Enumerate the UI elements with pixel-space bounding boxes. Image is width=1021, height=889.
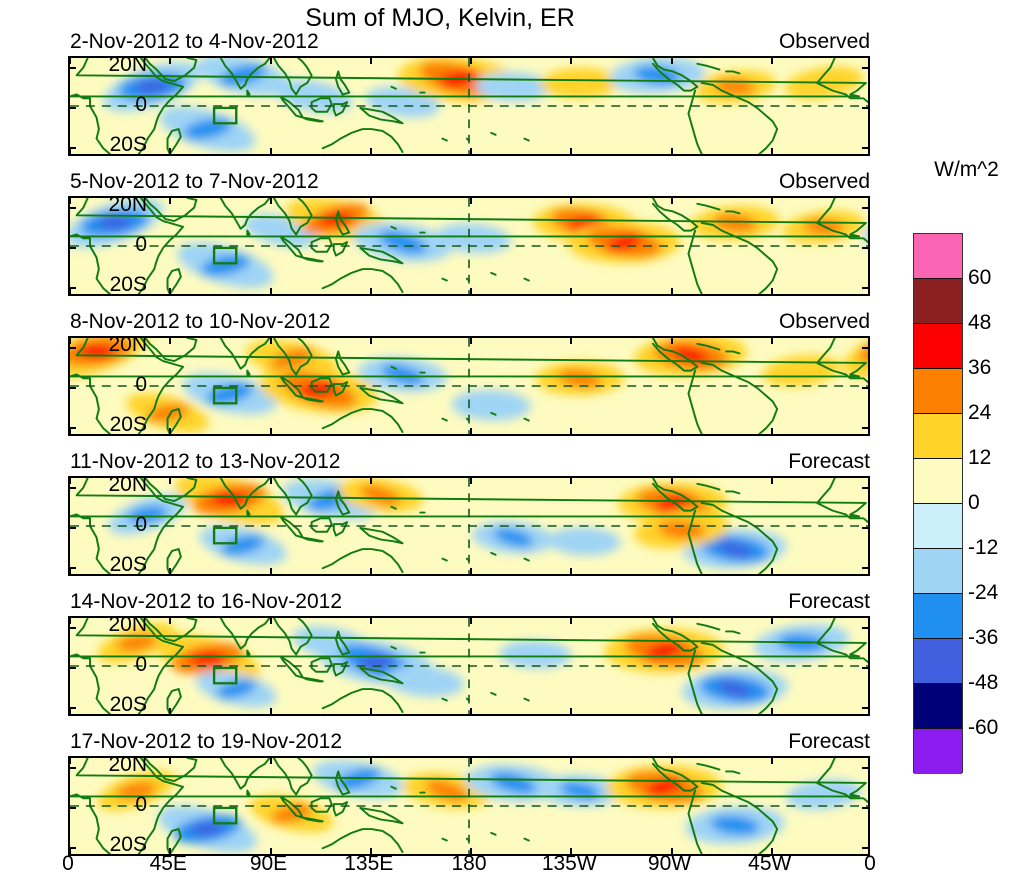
x-tick [671, 568, 673, 575]
figure-root: Sum of MJO, Kelvin, ER 2-Nov-2012 to 4-N… [0, 0, 1021, 889]
y-axis-label-20S: 20S [87, 413, 147, 437]
y-tick [69, 387, 76, 389]
x-tick [370, 337, 372, 344]
x-tick [69, 288, 71, 295]
y-tick [69, 287, 76, 289]
colorbar-band-1[interactable] [914, 279, 962, 324]
colorbar-band-4[interactable] [914, 414, 962, 459]
colorbar-band-3[interactable] [914, 369, 962, 414]
y-axis-label-20S: 20S [87, 693, 147, 717]
panel-header: 17-Nov-2012 to 19-Nov-2012Forecast [68, 730, 870, 756]
x-tick [370, 288, 372, 295]
x-tick [270, 197, 272, 204]
y-tick [69, 207, 76, 209]
colorbar-ticklabel-36: 36 [968, 356, 991, 380]
y-tick [862, 627, 869, 629]
x-tick [771, 757, 773, 764]
x-tick [671, 197, 673, 204]
y-tick [69, 107, 76, 109]
x-tick [771, 617, 773, 624]
y-tick [69, 707, 76, 709]
y-tick [862, 667, 869, 669]
x-tick [169, 197, 171, 204]
x-tick [69, 337, 71, 344]
x-tick [470, 757, 472, 764]
panel-kind-label: Forecast [788, 730, 870, 754]
panel-date-range: 17-Nov-2012 to 19-Nov-2012 [70, 730, 342, 754]
colorbar-band-6[interactable] [914, 504, 962, 549]
x-tick [771, 708, 773, 715]
x-tick [671, 428, 673, 435]
colorbar-ticklabel-60: 60 [968, 266, 991, 290]
x-tick [470, 568, 472, 575]
x-tick [570, 568, 572, 575]
x-axis-label-0: 0 [864, 852, 876, 876]
panel-date-range: 8-Nov-2012 to 10-Nov-2012 [70, 310, 330, 334]
y-tick [69, 527, 76, 529]
y-tick [69, 767, 76, 769]
colorbar-band-11[interactable] [914, 729, 962, 774]
panel-contour-field [70, 198, 868, 294]
y-tick [69, 667, 76, 669]
colorbar-ticklabels: 60483624120-12-24-36-48-60 [968, 233, 1021, 773]
y-tick [69, 807, 76, 809]
x-tick [470, 148, 472, 155]
y-axis-label-20N: 20N [87, 193, 147, 217]
y-axis-label-20N: 20N [87, 53, 147, 77]
y-tick [862, 767, 869, 769]
y-axis-label-20S: 20S [87, 553, 147, 577]
y-tick [862, 147, 869, 149]
y-tick [862, 67, 869, 69]
x-tick [169, 477, 171, 484]
x-tick [270, 708, 272, 715]
y-tick [69, 427, 76, 429]
x-tick [169, 57, 171, 64]
y-axis-label-0: 0 [87, 793, 147, 817]
colorbar-ticklabel-24: 24 [968, 401, 991, 425]
colorbar-band-9[interactable] [914, 639, 962, 684]
figure-title: Sum of MJO, Kelvin, ER [0, 4, 880, 33]
x-tick [671, 757, 673, 764]
x-tick [69, 708, 71, 715]
x-axis-label-45E: 45E [150, 852, 187, 876]
colorbar-band-7[interactable] [914, 549, 962, 594]
x-tick [69, 148, 71, 155]
x-tick [270, 148, 272, 155]
panel-plot-area[interactable] [68, 756, 870, 856]
x-axis-label-180: 180 [451, 852, 486, 876]
panel-header: 14-Nov-2012 to 16-Nov-2012Forecast [68, 590, 870, 616]
x-tick [570, 337, 572, 344]
y-axis-label-0: 0 [87, 233, 147, 257]
x-tick [69, 617, 71, 624]
x-tick [169, 288, 171, 295]
panel-contour-field [70, 758, 868, 854]
x-tick [570, 148, 572, 155]
y-tick [862, 107, 869, 109]
y-tick [69, 847, 76, 849]
x-axis-label-135W: 135W [542, 852, 597, 876]
panel-kind-label: Forecast [788, 450, 870, 474]
panel-plot-area[interactable] [68, 196, 870, 296]
x-tick [370, 428, 372, 435]
x-tick [370, 757, 372, 764]
panel-date-range: 5-Nov-2012 to 7-Nov-2012 [70, 170, 319, 194]
x-tick [270, 57, 272, 64]
y-axis-label-20N: 20N [87, 753, 147, 777]
colorbar-ticklabel--60: -60 [968, 716, 998, 740]
x-tick [570, 288, 572, 295]
x-tick [470, 708, 472, 715]
x-tick [771, 57, 773, 64]
colorbar-units-label: W/m^2 [912, 158, 1021, 182]
x-tick [370, 617, 372, 624]
x-tick [470, 477, 472, 484]
x-tick [169, 757, 171, 764]
y-axis-label-0: 0 [87, 653, 147, 677]
y-tick [69, 567, 76, 569]
x-tick [570, 757, 572, 764]
x-tick [69, 428, 71, 435]
y-axis-label-0: 0 [87, 93, 147, 117]
x-tick [771, 148, 773, 155]
y-tick [862, 247, 869, 249]
x-tick [771, 197, 773, 204]
y-tick [862, 387, 869, 389]
x-tick [570, 197, 572, 204]
y-tick [69, 487, 76, 489]
x-tick [270, 337, 272, 344]
x-tick [671, 148, 673, 155]
y-tick [69, 67, 76, 69]
y-axis-label-20S: 20S [87, 273, 147, 297]
y-tick [862, 847, 869, 849]
y-axis-label-20N: 20N [87, 613, 147, 637]
colorbar-band-5[interactable] [914, 459, 962, 504]
x-axis-label-0: 0 [62, 852, 74, 876]
colorbar-band-0[interactable] [914, 234, 962, 279]
y-tick [69, 247, 76, 249]
x-tick [470, 197, 472, 204]
x-tick [270, 617, 272, 624]
panel-header: 11-Nov-2012 to 13-Nov-2012Forecast [68, 450, 870, 476]
panel-contour-field [70, 58, 868, 154]
x-tick [671, 617, 673, 624]
y-tick [862, 287, 869, 289]
y-tick [862, 567, 869, 569]
y-tick [862, 347, 869, 349]
x-tick [470, 617, 472, 624]
x-tick [270, 757, 272, 764]
x-tick [570, 57, 572, 64]
panel-kind-label: Forecast [788, 590, 870, 614]
x-tick [771, 288, 773, 295]
x-tick [69, 757, 71, 764]
x-tick [370, 708, 372, 715]
panel-contour-field [70, 618, 868, 714]
panel-plot-area[interactable] [68, 336, 870, 436]
x-tick [771, 337, 773, 344]
x-tick [370, 477, 372, 484]
x-axis-label-135E: 135E [344, 852, 393, 876]
x-tick [370, 57, 372, 64]
x-tick [169, 708, 171, 715]
x-tick [671, 477, 673, 484]
y-tick [862, 427, 869, 429]
x-tick [570, 708, 572, 715]
x-tick [671, 288, 673, 295]
y-tick [862, 527, 869, 529]
colorbar-ticklabel-0: 0 [968, 491, 980, 515]
y-axis-label-0: 0 [87, 373, 147, 397]
x-tick [671, 57, 673, 64]
y-tick [69, 147, 76, 149]
x-tick [470, 337, 472, 344]
colorbar-ticklabel--48: -48 [968, 671, 998, 695]
colorbar-ticklabel--36: -36 [968, 626, 998, 650]
x-tick [370, 197, 372, 204]
x-tick [370, 568, 372, 575]
y-tick [862, 207, 869, 209]
x-tick [69, 57, 71, 64]
colorbar-ticklabel--24: -24 [968, 581, 998, 605]
panel-kind-label: Observed [779, 170, 870, 194]
y-tick [862, 487, 869, 489]
x-tick [169, 428, 171, 435]
x-tick [570, 477, 572, 484]
x-tick [470, 428, 472, 435]
x-axis-label-45W: 45W [748, 852, 791, 876]
colorbar[interactable] [913, 233, 963, 773]
panel-plot-area[interactable] [68, 56, 870, 156]
y-axis-label-20N: 20N [87, 333, 147, 357]
x-tick [570, 617, 572, 624]
y-axis-label-0: 0 [87, 513, 147, 537]
y-tick [862, 807, 869, 809]
panel-plot-area[interactable] [68, 476, 870, 576]
x-tick [370, 148, 372, 155]
x-axis-label-90W: 90W [648, 852, 691, 876]
x-tick [69, 568, 71, 575]
panel-header: 5-Nov-2012 to 7-Nov-2012Observed [68, 170, 870, 196]
x-tick [771, 568, 773, 575]
colorbar-ticklabel--12: -12 [968, 536, 998, 560]
y-tick [862, 707, 869, 709]
x-tick [169, 337, 171, 344]
x-tick [169, 617, 171, 624]
x-axis-label-90E: 90E [250, 852, 287, 876]
x-tick [169, 568, 171, 575]
colorbar-band-10[interactable] [914, 684, 962, 729]
y-tick [69, 627, 76, 629]
x-tick [169, 148, 171, 155]
panel-header: 2-Nov-2012 to 4-Nov-2012Observed [68, 30, 870, 56]
y-axis-label-20S: 20S [87, 833, 147, 857]
panel-date-range: 2-Nov-2012 to 4-Nov-2012 [70, 30, 319, 54]
y-tick [69, 347, 76, 349]
x-tick [270, 568, 272, 575]
x-tick [771, 428, 773, 435]
panel-date-range: 11-Nov-2012 to 13-Nov-2012 [70, 450, 340, 474]
x-tick [470, 288, 472, 295]
colorbar-band-2[interactable] [914, 324, 962, 369]
x-tick [270, 428, 272, 435]
x-tick [270, 477, 272, 484]
x-tick [69, 197, 71, 204]
x-tick [470, 57, 472, 64]
panel-kind-label: Observed [779, 30, 870, 54]
colorbar-ticklabel-48: 48 [968, 311, 991, 335]
x-tick [671, 708, 673, 715]
y-axis-label-20N: 20N [87, 473, 147, 497]
x-tick [771, 477, 773, 484]
x-tick [570, 428, 572, 435]
panel-header: 8-Nov-2012 to 10-Nov-2012Observed [68, 310, 870, 336]
x-tick [671, 337, 673, 344]
panel-date-range: 14-Nov-2012 to 16-Nov-2012 [70, 590, 342, 614]
x-tick [270, 288, 272, 295]
panel-plot-area[interactable] [68, 616, 870, 716]
panel-contour-field [70, 478, 868, 574]
x-tick [69, 477, 71, 484]
colorbar-ticklabel-12: 12 [968, 446, 991, 470]
panel-contour-field [70, 338, 868, 434]
y-axis-label-20S: 20S [87, 133, 147, 157]
panel-kind-label: Observed [779, 310, 870, 334]
colorbar-band-8[interactable] [914, 594, 962, 639]
